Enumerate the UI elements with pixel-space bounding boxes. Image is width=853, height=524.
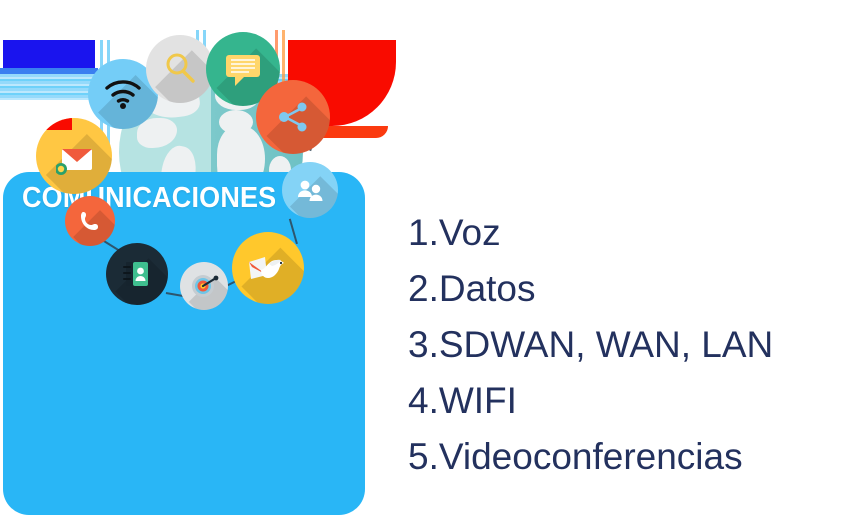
- communications-illustration: COMUNICACIONES: [0, 0, 400, 524]
- contact-book-icon: [106, 243, 168, 305]
- glitch-block-blue: [3, 40, 95, 68]
- share-network-icon: [256, 80, 330, 154]
- services-list: 1.Voz 2.Datos 3.SDWAN, WAN, LAN 4.WIFI 5…: [408, 205, 838, 485]
- list-item: 2.Datos: [408, 261, 838, 317]
- glitch-block-red-small: [36, 118, 72, 130]
- email-envelope-icon: [36, 118, 112, 194]
- slide-canvas: COMUNICACIONES: [0, 0, 853, 524]
- list-item: 3.SDWAN, WAN, LAN: [408, 317, 838, 373]
- dove-mail-icon: [232, 232, 304, 304]
- list-item: 5.Videoconferencias: [408, 429, 838, 485]
- list-item: 1.Voz: [408, 205, 838, 261]
- search-icon: [146, 35, 214, 103]
- communications-card[interactable]: [3, 172, 365, 515]
- phone-icon: [65, 196, 115, 246]
- list-item: 4.WIFI: [408, 373, 838, 429]
- users-group-icon: [282, 162, 338, 218]
- target-dart-icon: [180, 262, 228, 310]
